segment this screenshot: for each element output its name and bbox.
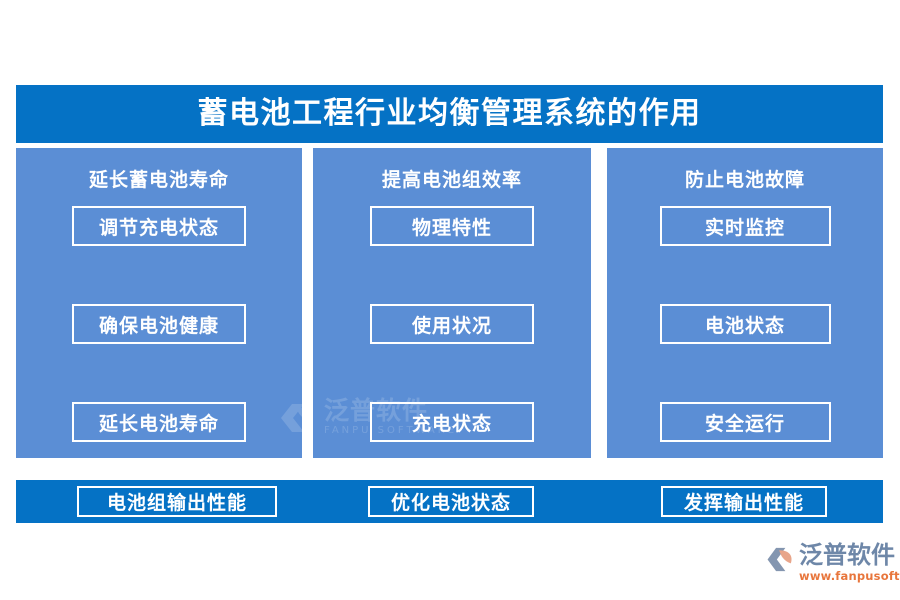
item-box[interactable]: 延长电池寿命 (72, 402, 246, 442)
bottom-bar: 电池组输出性能 优化电池状态 发挥输出性能 (16, 480, 883, 523)
bottom-box[interactable]: 优化电池状态 (368, 486, 534, 517)
brand-url: www.fanpusoft.com (799, 569, 900, 583)
item-box[interactable]: 充电状态 (370, 402, 534, 442)
title-bar: 蓄电池工程行业均衡管理系统的作用 (16, 85, 883, 143)
bottom-box[interactable]: 电池组输出性能 (77, 486, 277, 517)
bottom-box[interactable]: 发挥输出性能 (661, 486, 827, 517)
item-box[interactable]: 确保电池健康 (72, 304, 246, 344)
column-items-2: 物理特性 使用状况 充电状态 (313, 206, 591, 458)
diagram-canvas: 蓄电池工程行业均衡管理系统的作用 延长蓄电池寿命 调节充电状态 确保电池健康 延… (0, 0, 900, 600)
column-items-3: 实时监控 电池状态 安全运行 (607, 206, 883, 458)
column-header-1: 延长蓄电池寿命 (89, 165, 229, 192)
column-panel-1: 延长蓄电池寿命 调节充电状态 确保电池健康 延长电池寿命 (16, 148, 302, 458)
column-panel-2: 提高电池组效率 物理特性 使用状况 充电状态 (313, 148, 591, 458)
column-panel-3: 防止电池故障 实时监控 电池状态 安全运行 (607, 148, 883, 458)
brand-logo: 泛普软件 www.fanpusoft.com (766, 543, 890, 588)
brand-name: 泛普软件 (799, 543, 900, 568)
item-box[interactable]: 安全运行 (660, 402, 831, 442)
item-box[interactable]: 使用状况 (370, 304, 534, 344)
item-box[interactable]: 电池状态 (660, 304, 831, 344)
item-box[interactable]: 实时监控 (660, 206, 831, 246)
item-box[interactable]: 物理特性 (370, 206, 534, 246)
columns-container: 延长蓄电池寿命 调节充电状态 确保电池健康 延长电池寿命 提高电池组效率 物理特… (16, 148, 883, 458)
item-box[interactable]: 调节充电状态 (72, 206, 246, 246)
column-items-1: 调节充电状态 确保电池健康 延长电池寿命 (16, 206, 302, 458)
brand-logo-icon (766, 544, 797, 575)
column-header-2: 提高电池组效率 (382, 165, 522, 192)
brand-logo-text: 泛普软件 www.fanpusoft.com (799, 543, 900, 583)
column-header-3: 防止电池故障 (685, 165, 805, 192)
page-title: 蓄电池工程行业均衡管理系统的作用 (198, 99, 702, 129)
